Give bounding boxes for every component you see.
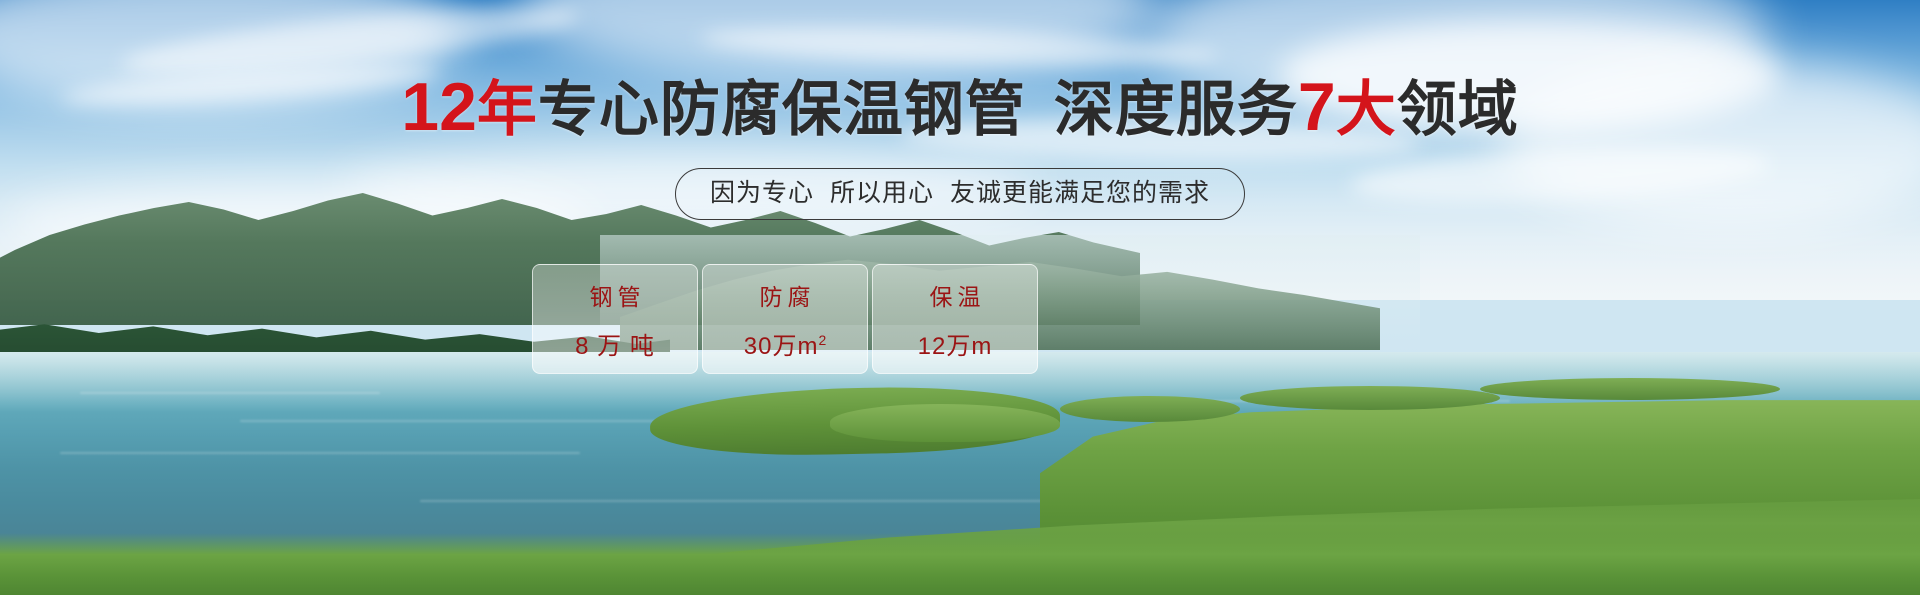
stat-card-value: 12万m [918,326,993,361]
stat-card-title: 钢管 [585,278,646,312]
stat-card-value-text: 12万m [918,333,993,360]
stat-card-anticorrosion: 防腐 30万m2 [702,264,868,374]
hero-banner: 12年专心防腐保温钢管深度服务7大领域 因为专心所以用心友诚更能满足您的需求 钢… [0,0,1920,595]
subtitle-segment-1: 因为专心 [710,179,814,207]
stat-card-value-text: 30万m [744,333,819,360]
subtitle-segment-3: 友诚更能满足您的需求 [950,179,1210,207]
stat-card-value: 30万m2 [744,326,826,361]
subtitle-segment-2: 所以用心 [830,179,934,207]
headline-fields-big: 大 [1336,76,1397,143]
stat-card-title: 保温 [925,278,986,312]
headline-part-3: 领域 [1397,76,1519,143]
page-title: 12年专心防腐保温钢管深度服务7大领域 [0,74,1920,143]
stat-card-value-superscript: 2 [818,332,826,348]
headline-years-unit: 年 [477,76,538,143]
headline-years-number: 12 [401,69,477,145]
stat-card-title: 防腐 [755,278,816,312]
stat-card-steel-pipe: 钢管 8 万 吨 [532,264,698,374]
stat-card-value: 8 万 吨 [575,326,655,361]
headline-fields-number: 7 [1298,69,1336,145]
subtitle-container: 因为专心所以用心友诚更能满足您的需求 [0,168,1920,220]
stat-card-value-text: 8 万 吨 [575,333,655,360]
stat-card-insulation: 保温 12万m [872,264,1038,374]
headline-part-2: 深度服务 [1054,76,1298,143]
banner-content: 12年专心防腐保温钢管深度服务7大领域 因为专心所以用心友诚更能满足您的需求 钢… [0,0,1920,595]
headline-part-1: 专心防腐保温钢管 [538,76,1026,143]
subtitle-pill: 因为专心所以用心友诚更能满足您的需求 [675,168,1245,220]
stat-cards: 钢管 8 万 吨 防腐 30万m2 保温 12万m [532,264,1038,374]
